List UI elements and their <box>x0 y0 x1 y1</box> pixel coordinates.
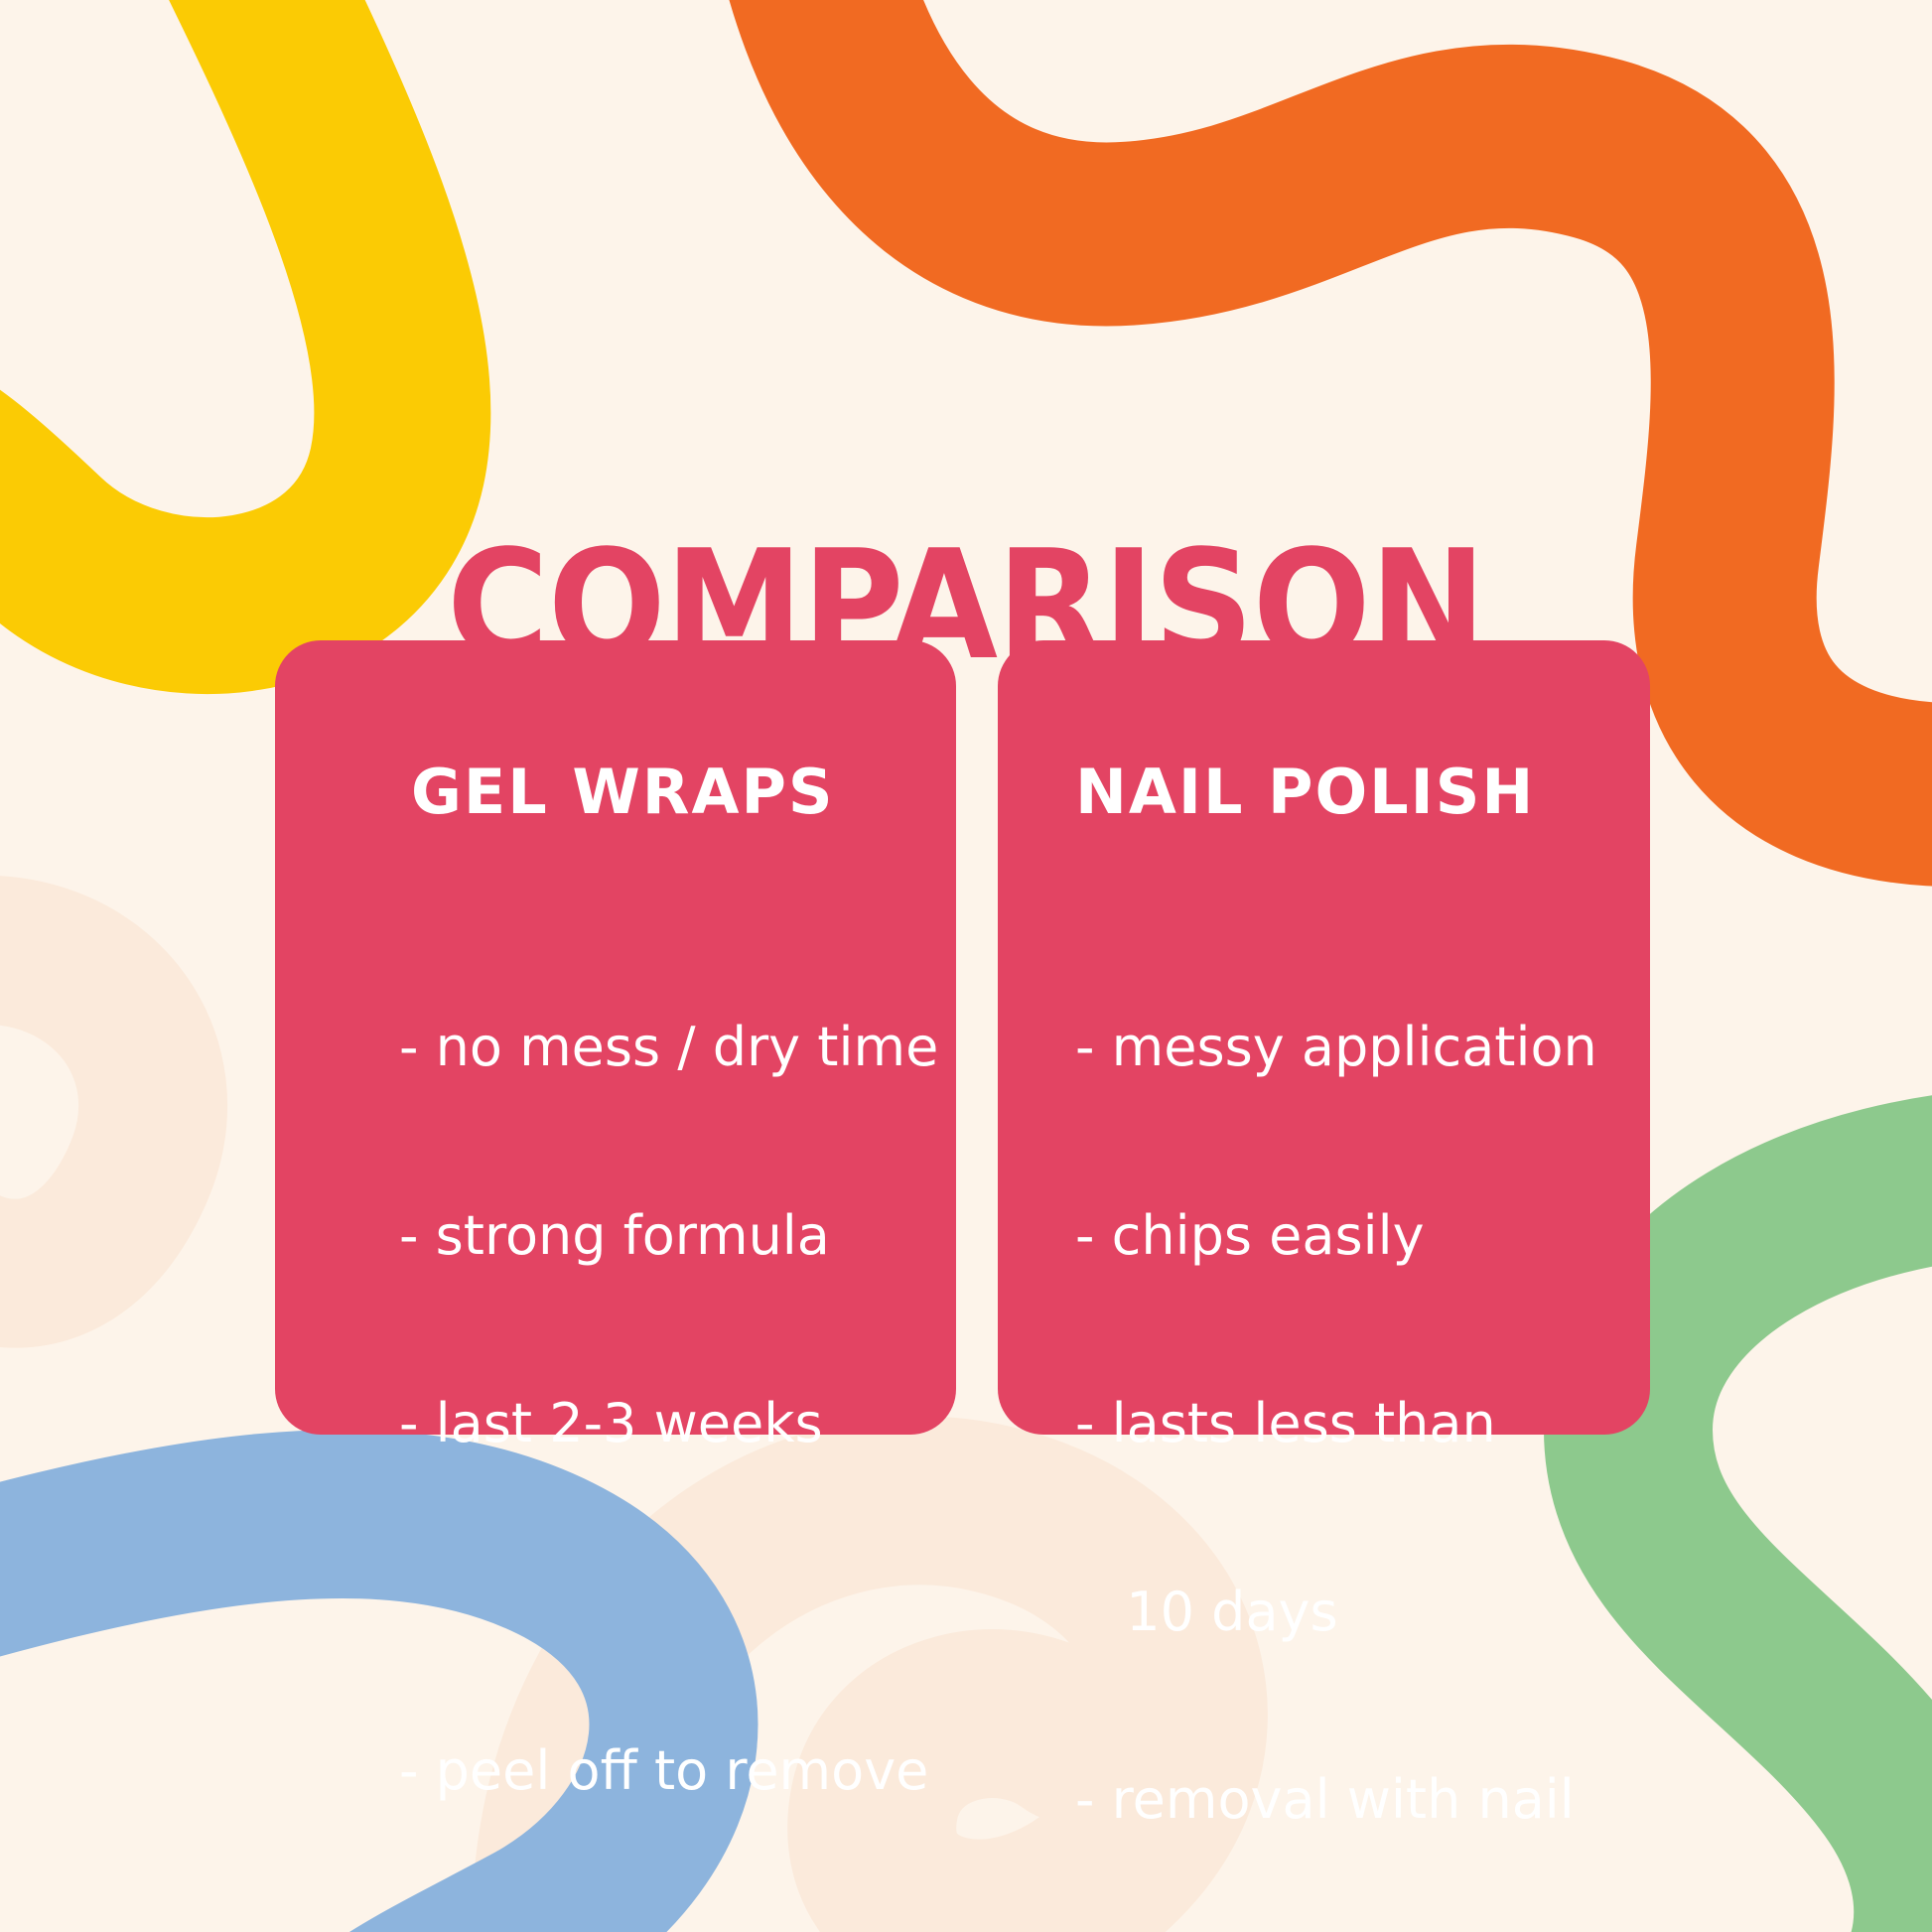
list-item: - removal with nail <box>1075 1768 1597 1831</box>
comparison-cards: GEL WRAPS - no mess / dry time - strong … <box>275 640 1650 1435</box>
card-bullets-gel-wraps: - no mess / dry time - strong formula - … <box>399 891 938 1927</box>
list-item-continuation: 10 days <box>1075 1581 1597 1643</box>
list-item: - last 2-3 weeks <box>399 1392 938 1454</box>
list-item: - messy application <box>1075 1016 1597 1078</box>
comparison-poster: COMPARISON GEL WRAPS - no mess / dry tim… <box>0 0 1932 1932</box>
list-item: - peel off to remove <box>399 1739 938 1802</box>
card-nail-polish: NAIL POLISH - messy application - chips … <box>998 640 1650 1435</box>
list-item: - no mess / dry time <box>399 1016 938 1078</box>
card-title-nail-polish: NAIL POLISH <box>1075 761 1535 823</box>
list-item: - strong formula <box>399 1204 938 1267</box>
card-bullets-nail-polish: - messy application - chips easily - las… <box>1075 891 1597 1932</box>
card-title-gel-wraps: GEL WRAPS <box>411 761 835 823</box>
list-item: - lasts less than <box>1075 1392 1597 1454</box>
card-gel-wraps: GEL WRAPS - no mess / dry time - strong … <box>275 640 956 1435</box>
list-item: - chips easily <box>1075 1204 1597 1267</box>
list-spacer <box>399 1581 938 1613</box>
